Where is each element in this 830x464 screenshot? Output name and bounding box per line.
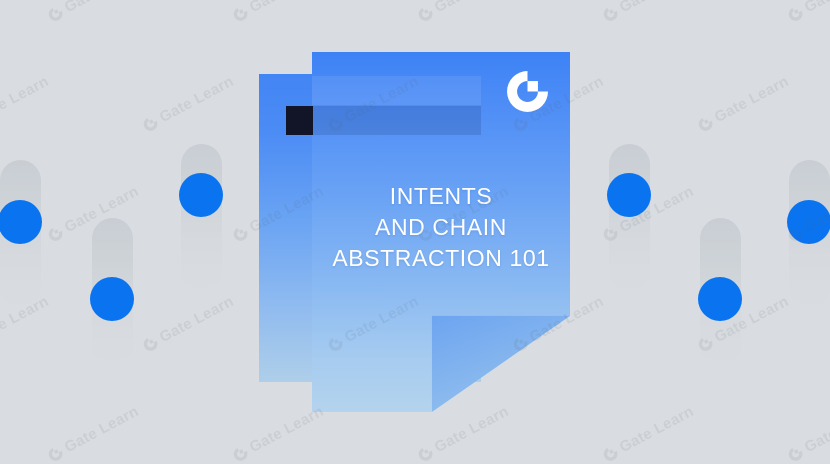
header-square-block: [286, 106, 313, 135]
slider-track-3: [181, 144, 222, 292]
article-cover: INTENTS AND CHAIN ABSTRACTION 101 Gate L…: [0, 0, 830, 464]
cover-title-line-2: AND CHAIN: [312, 212, 570, 243]
cover-title-line-1: INTENTS: [312, 181, 570, 212]
slider-knob-3: [179, 173, 223, 217]
slider-track-4: [609, 144, 650, 292]
slider-knob-6: [787, 200, 830, 244]
slider-knob-2: [90, 277, 134, 321]
slider-knob-5: [698, 277, 742, 321]
cover-title-line-3: ABSTRACTION 101: [312, 243, 570, 274]
header-bar-light: [312, 76, 481, 105]
header-bar-dark: [286, 106, 481, 135]
gate-g-logo-icon: [505, 69, 550, 114]
slider-knob-4: [607, 173, 651, 217]
cover-title: INTENTS AND CHAIN ABSTRACTION 101: [312, 181, 570, 274]
slider-knob-1: [0, 200, 42, 244]
